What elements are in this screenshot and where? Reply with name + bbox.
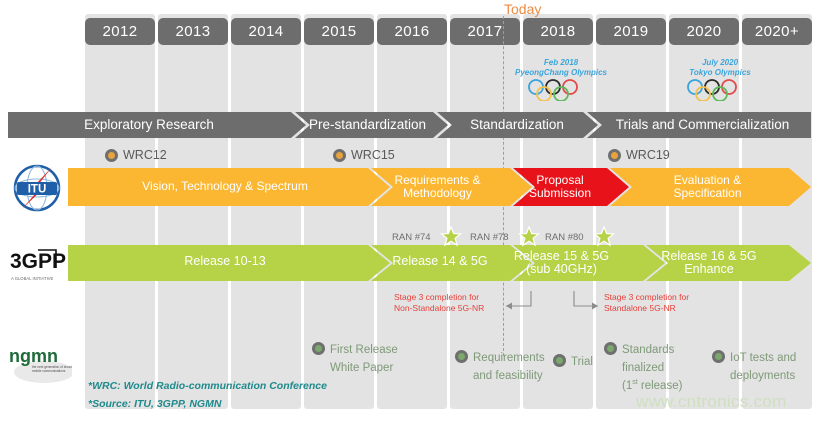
phase-label-0: Exploratory Research <box>8 117 290 132</box>
today-label: Today <box>504 1 541 17</box>
olympics-callout-pyeongchang: Feb 2018 PyeongChang Olympics <box>500 58 622 104</box>
ran-star-icon-2 <box>593 226 615 247</box>
olympics-date: Feb 2018 <box>500 58 622 68</box>
ran-label-1: RAN #78 <box>470 232 509 243</box>
ran-star-icon-1 <box>518 226 540 247</box>
ngmn-milestone-0: First Release White Paper <box>312 340 398 376</box>
ngmn-milestone-label: Standards finalized <box>622 344 674 374</box>
stage-note-left-connector <box>498 290 532 316</box>
column-band-2012 <box>85 14 155 409</box>
olympics-name: PyeongChang Olympics <box>500 68 622 78</box>
ngmn-milestone-label: Requirements and feasibility <box>473 352 545 382</box>
year-chip-2012[interactable]: 2012 <box>85 18 155 45</box>
wrc-marker-wrc12: WRC12 <box>105 148 167 162</box>
ran-label-2: RAN #80 <box>545 232 584 243</box>
olympics-name: Tokyo Olympics <box>665 68 775 78</box>
column-band-2013 <box>158 14 228 409</box>
ngmn-milestone-4: IoT tests and deployments <box>712 348 796 384</box>
stage-note-line2: Standalone 5G-NR <box>604 303 689 314</box>
ngmn-dot-icon <box>312 342 325 355</box>
phase-label-1: Pre-standardization <box>295 117 440 132</box>
wrc-dot-icon <box>333 149 346 162</box>
roadmap-canvas: 2012201320142015201620172018201920202020… <box>0 0 819 423</box>
year-chip-2020[interactable]: 2020 <box>669 18 739 45</box>
year-chip-2016[interactable]: 2016 <box>377 18 447 45</box>
ran-label-0: RAN #74 <box>392 232 431 243</box>
ngmn-logo-tagline-2: mobile communications <box>32 369 66 373</box>
gpp-segment-1: Release 14 & 5G <box>375 255 505 268</box>
ngmn-milestone-label: IoT tests and deployments <box>730 352 796 382</box>
ngmn-milestone-label: First Release White Paper <box>330 344 398 374</box>
olympic-rings-icon <box>524 79 598 101</box>
ngmn-logo-icon: ngmn the next generation of broadband mo… <box>6 340 72 384</box>
3gpp-logo-icon: 3GPP A GLOBAL INITIATIVE <box>8 242 66 288</box>
ngmn-logo-text: ngmn <box>9 346 58 366</box>
wrc-marker-wrc15: WRC15 <box>333 148 395 162</box>
itu-globe-icon: ITU <box>8 162 66 214</box>
wrc-label: WRC15 <box>351 148 395 162</box>
year-chip-2019[interactable]: 2019 <box>596 18 666 45</box>
watermark: www.cntronics.com <box>636 392 787 412</box>
footnote-wrc: *WRC: World Radio-communication Conferen… <box>88 380 327 392</box>
stage-note-standalone: Stage 3 completion for Standalone 5G-NR <box>604 292 689 314</box>
phase-label-3: Trials and Commercialization <box>594 117 811 132</box>
phase-label-2: Standardization <box>444 117 590 132</box>
gpp-logo-text: 3GPP <box>10 250 66 273</box>
gpp-segment-2: Release 15 & 5G (sub 40GHz) <box>508 250 615 276</box>
ngmn-milestone-label: Trial <box>571 356 593 368</box>
itu-logo-text: ITU <box>28 184 47 196</box>
wrc-dot-icon <box>105 149 118 162</box>
ngmn-dot-icon <box>455 350 468 363</box>
wrc-label: WRC12 <box>123 148 167 162</box>
wrc-marker-wrc19: WRC19 <box>608 148 670 162</box>
ngmn-milestone-1: Requirements and feasibility <box>455 348 545 384</box>
ngmn-dot-icon <box>553 354 566 367</box>
gpp-segment-3: Release 16 & 5G Enhance <box>618 250 800 276</box>
year-chip-2017[interactable]: 2017 <box>450 18 520 45</box>
ran-star-icon-0 <box>440 226 462 247</box>
year-chip-2014[interactable]: 2014 <box>231 18 301 45</box>
itu-segment-3: Evaluation & Specification <box>615 174 800 200</box>
olympics-callout-tokyo: July 2020 Tokyo Olympics <box>665 58 775 104</box>
wrc-label: WRC19 <box>626 148 670 162</box>
itu-segment-2: Proposal Submission <box>505 174 615 200</box>
olympic-rings-icon <box>683 79 757 101</box>
itu-segment-0: Vision, Technology & Spectrum <box>70 180 380 193</box>
ngmn-milestone-3: Standards finalized(1st release) <box>604 340 682 393</box>
year-chip-2013[interactable]: 2013 <box>158 18 228 45</box>
ngmn-milestone-2: Trial <box>553 352 593 370</box>
stage-note-non-standalone: Stage 3 completion for Non-Standalone 5G… <box>394 292 484 314</box>
ngmn-dot-icon <box>712 350 725 363</box>
year-chip-2015[interactable]: 2015 <box>304 18 374 45</box>
column-band-2014 <box>231 14 301 409</box>
gpp-logo-tagline: A GLOBAL INITIATIVE <box>11 276 54 281</box>
itu-segment-1: Requirements & Methodology <box>375 174 500 200</box>
ngmn-milestone-sublabel: (1st release) <box>622 376 682 393</box>
gpp-segment-0: Release 10-13 <box>70 255 380 268</box>
ngmn-logo: ngmn the next generation of broadband mo… <box>6 340 72 384</box>
wrc-dot-icon <box>608 149 621 162</box>
ngmn-dot-icon <box>604 342 617 355</box>
olympics-date: July 2020 <box>665 58 775 68</box>
stage-note-line1: Stage 3 completion for <box>604 292 689 303</box>
stage-note-line1: Stage 3 completion for <box>394 292 484 303</box>
stage-note-line2: Non-Standalone 5G-NR <box>394 303 484 314</box>
year-chip-2020+[interactable]: 2020+ <box>742 18 812 45</box>
gpp-logo: 3GPP A GLOBAL INITIATIVE <box>8 242 66 294</box>
footnote-source: *Source: ITU, 3GPP, NGMN <box>88 398 221 410</box>
year-chip-2018[interactable]: 2018 <box>523 18 593 45</box>
itu-logo: ITU <box>8 162 66 214</box>
stage-note-right-connector <box>573 290 605 316</box>
